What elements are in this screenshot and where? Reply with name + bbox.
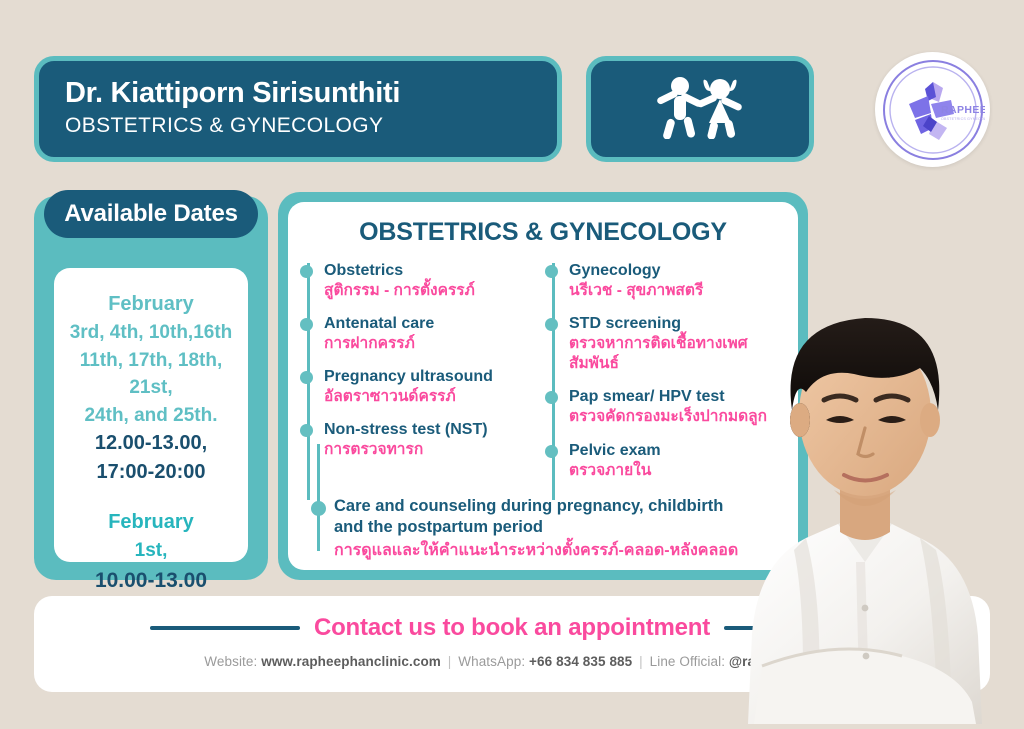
divider-right	[724, 626, 874, 630]
bullet-dot-icon	[300, 265, 313, 278]
service-name-th: อัลตราซาวนด์ครรภ์	[324, 387, 543, 407]
bullet-dot-icon	[545, 265, 558, 278]
line-value[interactable]: @rapheephan	[729, 654, 820, 669]
service-item: Non-stress test (NST) การตรวจทารก	[324, 420, 543, 460]
services-left-column: Obstetrics สูติกรรม - การตั้งครรภ์ Anten…	[298, 261, 543, 494]
bullet-dot-icon	[311, 501, 326, 516]
page-title: Dr. Kiattiporn Sirisunthiti	[65, 77, 557, 110]
service-item: Obstetrics สูติกรรม - การตั้งครรภ์	[324, 261, 543, 301]
service-name-th: ตรวจหาการติดเชื้อทางเพศสัมพันธ์	[569, 334, 788, 374]
available-dates-panel: Available Dates February 3rd, 4th, 10th,…	[34, 196, 268, 580]
service-item-full-width: Care and counseling during pregnancy, ch…	[308, 496, 798, 561]
service-name-en: Care and counseling during pregnancy, ch…	[334, 496, 798, 517]
divider-left	[150, 626, 300, 630]
time-line: 10.00-13.00	[62, 565, 240, 597]
logo-brand-text: RAPHEEPHAN	[941, 104, 985, 116]
service-item: Pelvic exam ตรวจภายใน	[569, 441, 788, 481]
doctor-name-card: Dr. Kiattiporn Sirisunthiti OBSTETRICS &…	[34, 56, 562, 162]
service-name-en: Gynecology	[569, 261, 788, 281]
service-name-th: การฝากครรภ์	[324, 334, 543, 354]
contact-title: Contact us to book an appointment	[314, 614, 710, 642]
services-columns: Obstetrics สูติกรรม - การตั้งครรภ์ Anten…	[288, 261, 798, 494]
available-dates-label: Available Dates	[64, 200, 238, 228]
day-line: 11th, 17th, 18th, 21st,	[62, 347, 240, 402]
services-right-column: Gynecology นรีเวช - สุขภาพสตรี STD scree…	[543, 261, 788, 494]
services-title: OBSTETRICS & GYNECOLOGY	[288, 218, 798, 247]
bullet-dot-icon	[300, 371, 313, 384]
whatsapp-label: WhatsApp:	[458, 654, 525, 669]
contact-details: Website: www.rapheephanclinic.com | What…	[34, 654, 990, 669]
month-label-1: February	[62, 290, 240, 319]
service-name-en: Non-stress test (NST)	[324, 420, 543, 440]
service-name-en: STD screening	[569, 314, 788, 334]
service-name-th: การดูแลและให้คำแนะนำระหว่างตั้งครรภ์-คลอ…	[334, 540, 798, 562]
website-label: Website:	[204, 654, 257, 669]
bullet-dot-icon	[300, 318, 313, 331]
service-name-th: สูติกรรม - การตั้งครรภ์	[324, 281, 543, 301]
bullet-dot-icon	[300, 424, 313, 437]
line-label: Line Official:	[650, 654, 725, 669]
available-dates-badge: Available Dates	[44, 190, 258, 238]
service-name-en: and the postpartum period	[334, 517, 798, 538]
header: Dr. Kiattiporn Sirisunthiti OBSTETRICS &…	[34, 56, 990, 162]
service-name-th: นรีเวช - สุขภาพสตรี	[569, 281, 788, 301]
day-line: 1st,	[62, 537, 240, 565]
time-line: 17:00-20:00	[62, 458, 240, 487]
service-item: STD screening ตรวจหาการติดเชื้อทางเพศสัม…	[569, 314, 788, 374]
two-children-icon	[651, 75, 749, 144]
bullet-dot-icon	[545, 445, 558, 458]
service-name-th: การตรวจทารก	[324, 440, 543, 460]
doctor-specialty: OBSTETRICS & GYNECOLOGY	[65, 112, 557, 139]
service-item: Antenatal care การฝากครรภ์	[324, 314, 543, 354]
service-item: Pap smear/ HPV test ตรวจคัดกรองมะเร็งปาก…	[569, 387, 788, 427]
service-name-th: ตรวจคัดกรองมะเร็งปากมดลูก	[569, 407, 788, 427]
clinic-logo: RAPHEEPHAN OBSTETRICS GYNECOLOGY CLINIC	[875, 52, 990, 167]
dates-content: February 3rd, 4th, 10th,16th 11th, 17th,…	[54, 268, 248, 562]
logo-tagline-text: OBSTETRICS GYNECOLOGY CLINIC	[941, 117, 985, 121]
timeline-rail	[552, 263, 555, 500]
service-name-en: Antenatal care	[324, 314, 543, 334]
service-item: Pregnancy ultrasound อัลตราซาวนด์ครรภ์	[324, 367, 543, 407]
website-value[interactable]: www.rapheephanclinic.com	[261, 654, 441, 669]
day-line: 3rd, 4th, 10th,16th	[62, 319, 240, 347]
service-name-th: ตรวจภายใน	[569, 461, 788, 481]
time-line: 12.00-13.00,	[62, 429, 240, 458]
timeline-rail	[317, 444, 320, 551]
day-line: 24th, and 25th.	[62, 402, 240, 430]
service-name-en: Pap smear/ HPV test	[569, 387, 788, 407]
separator: |	[636, 654, 646, 669]
bullet-dot-icon	[545, 318, 558, 331]
month-label-2: February	[62, 507, 240, 537]
whatsapp-value[interactable]: +66 834 835 885	[529, 654, 632, 669]
service-name-en: Pregnancy ultrasound	[324, 367, 543, 387]
service-name-en: Obstetrics	[324, 261, 543, 281]
separator: |	[445, 654, 455, 669]
service-item: Gynecology นรีเวช - สุขภาพสตรี	[569, 261, 788, 301]
services-panel: OBSTETRICS & GYNECOLOGY Obstetrics สูติก…	[278, 192, 808, 580]
service-name-en: Pelvic exam	[569, 441, 788, 461]
contact-footer: Contact us to book an appointment Websit…	[34, 596, 990, 692]
bullet-dot-icon	[545, 391, 558, 404]
kids-icon-card	[586, 56, 814, 162]
